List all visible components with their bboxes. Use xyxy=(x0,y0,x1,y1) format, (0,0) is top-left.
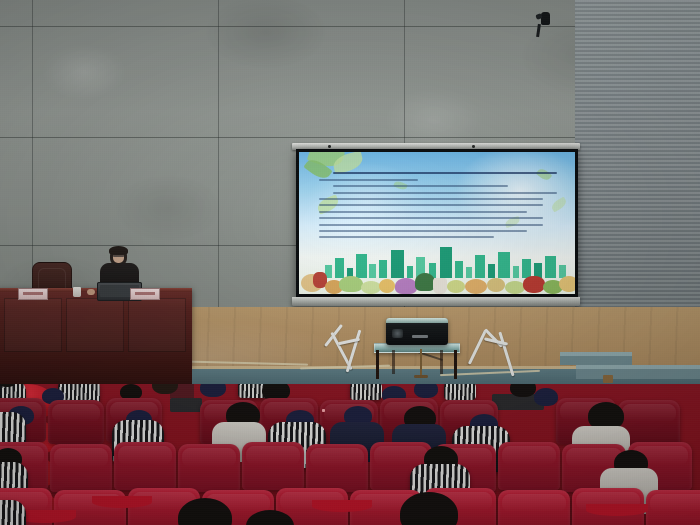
stage-step xyxy=(560,356,632,365)
audience-person xyxy=(350,384,382,400)
slide-body-line xyxy=(319,230,527,232)
audience-head xyxy=(414,384,438,398)
slide-body-line xyxy=(319,217,543,219)
projector-table-leg xyxy=(440,350,443,374)
wall-grout-line xyxy=(218,0,219,310)
slide-body-line xyxy=(319,198,543,200)
name-card xyxy=(130,288,160,300)
stage-prop-object xyxy=(603,375,613,383)
audience-head xyxy=(200,384,226,397)
auditorium-photo xyxy=(0,0,700,525)
security-camera-icon xyxy=(541,12,550,25)
slide-body-line xyxy=(319,236,494,238)
projector-table-leg xyxy=(392,350,395,374)
name-card xyxy=(18,288,48,300)
audience-person xyxy=(444,384,476,400)
slide-body-line xyxy=(319,224,543,226)
audience-seating xyxy=(0,384,700,525)
stage-step xyxy=(576,369,700,379)
seat[interactable] xyxy=(178,444,240,492)
presenter-glasses-icon xyxy=(113,255,124,257)
projector-table-leg xyxy=(454,350,457,379)
slide-surface xyxy=(299,152,575,294)
rail-mount-dot xyxy=(328,145,331,148)
seat[interactable] xyxy=(48,400,104,444)
slide-illustration-band xyxy=(299,240,575,294)
table-front-panel xyxy=(128,298,186,352)
audience-head xyxy=(510,384,536,397)
water-cup xyxy=(73,287,81,297)
slide-body-line xyxy=(319,211,527,213)
slide-body-line xyxy=(333,192,557,194)
seat[interactable] xyxy=(498,442,560,490)
audience-head xyxy=(534,388,558,406)
presenter-hair xyxy=(109,246,128,255)
red-cap-brim xyxy=(312,500,372,512)
projector-top-panel xyxy=(386,318,448,323)
seat[interactable] xyxy=(306,444,368,492)
audience-person xyxy=(0,500,26,525)
food-illustration xyxy=(299,268,575,294)
projector xyxy=(386,318,448,345)
seat[interactable] xyxy=(242,442,304,490)
audience-person xyxy=(0,412,26,446)
tripod-stand xyxy=(420,349,422,377)
table-front-panel xyxy=(66,298,124,352)
projection-screen xyxy=(296,149,578,297)
rail-mount-dot xyxy=(472,145,475,148)
presenter-hand xyxy=(87,289,95,295)
seat[interactable] xyxy=(50,444,112,492)
tripod-stand-base xyxy=(414,375,428,378)
red-cap-brim xyxy=(586,504,648,516)
slide-body-line xyxy=(333,185,508,187)
seat[interactable] xyxy=(646,490,700,525)
projector-table-leg xyxy=(376,350,379,379)
table-front-panel xyxy=(4,298,62,352)
wall-grout-line xyxy=(32,0,33,310)
aisle-railing xyxy=(170,398,202,412)
slide-text-block xyxy=(319,172,555,243)
slide-body-line xyxy=(319,179,418,181)
seat[interactable] xyxy=(114,442,176,490)
projector-lens-icon xyxy=(392,329,403,338)
red-cap-brim xyxy=(92,496,152,508)
projector-brand-label xyxy=(412,335,428,338)
seat[interactable] xyxy=(498,490,570,525)
slide-heading-line xyxy=(333,172,557,174)
slide-body-line xyxy=(319,204,543,206)
screen-bottom-weight-bar xyxy=(292,297,580,306)
